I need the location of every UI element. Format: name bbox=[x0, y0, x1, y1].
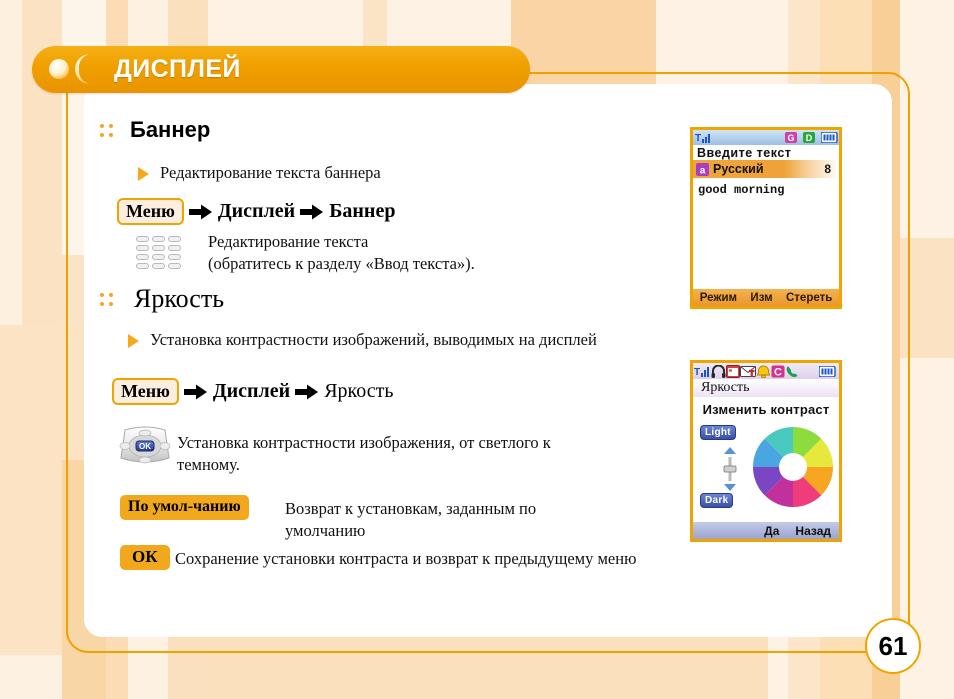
battery-icon bbox=[819, 366, 837, 377]
arrow-right-icon bbox=[294, 383, 320, 401]
default-desc-line2: умолчанию bbox=[285, 520, 365, 541]
phone-screen-text-entry: T G D Введите текст a Русский 8 good mor… bbox=[690, 127, 842, 309]
bg-block bbox=[900, 238, 954, 358]
page-title: ДИСПЛЕЙ bbox=[114, 55, 241, 84]
brightness-bullet: Установка контрастности изображений, выв… bbox=[128, 330, 668, 351]
phone2-softkey-back[interactable]: Назад bbox=[795, 524, 831, 538]
triangle-bullet-icon bbox=[128, 334, 139, 348]
phone1-counter: 8 bbox=[824, 162, 831, 176]
arrow-right-icon bbox=[183, 383, 209, 401]
phone1-language-row: a Русский 8 bbox=[693, 160, 839, 178]
phone1-body-text[interactable]: good morning bbox=[693, 178, 839, 283]
keypad-icon bbox=[136, 236, 184, 270]
phone1-softkey-center[interactable]: Изм bbox=[750, 292, 772, 304]
section-bullet-dots-icon bbox=[100, 291, 117, 308]
phone2-softkey-confirm[interactable]: Да bbox=[764, 524, 779, 538]
g-indicator-icon: G bbox=[785, 132, 797, 143]
svg-text:OK: OK bbox=[139, 442, 151, 451]
triangle-bullet-icon bbox=[138, 167, 149, 181]
default-badge[interactable]: По умол-чанию bbox=[120, 495, 249, 520]
banner-bullet-text: Редактирование текста баннера bbox=[160, 163, 381, 184]
navigation-key-icon: OK bbox=[117, 424, 173, 468]
c-icon: C bbox=[771, 365, 785, 378]
arrow-right-icon bbox=[188, 203, 214, 221]
d-indicator-icon: D bbox=[803, 132, 815, 143]
phone1-softkey-right[interactable]: Стереть bbox=[786, 292, 832, 304]
path-step-1: Дисплей bbox=[218, 200, 295, 223]
menu-chip-button[interactable]: Меню bbox=[112, 378, 179, 405]
path-step-2: Баннер bbox=[329, 200, 395, 223]
svg-text:a: a bbox=[700, 165, 706, 176]
mail-icon bbox=[740, 365, 756, 378]
menu-chip-button[interactable]: Меню bbox=[117, 198, 184, 225]
page-number: 61 bbox=[865, 618, 921, 674]
svg-text:G: G bbox=[787, 133, 794, 143]
brightness-menu-path: Меню Дисплей Яркость bbox=[112, 378, 393, 405]
color-wheel-icon[interactable] bbox=[751, 425, 835, 509]
banner-note-line1: Редактирование текста bbox=[208, 231, 368, 252]
phone1-title: Введите текст bbox=[693, 145, 839, 160]
phone-screen-brightness: T C Яркос bbox=[690, 360, 842, 542]
headset-icon bbox=[711, 365, 726, 378]
banner-note-line2: (обратитесь к разделу «Ввод текста»). bbox=[208, 253, 475, 274]
phone2-status-bar: T C bbox=[693, 363, 839, 379]
svg-text:T: T bbox=[694, 367, 700, 378]
phone1-softkeys: Режим Изм Стереть bbox=[693, 289, 839, 306]
path-step-1: Дисплей bbox=[213, 380, 290, 403]
input-mode-a-icon: a bbox=[696, 163, 709, 176]
contrast-slider[interactable] bbox=[715, 445, 745, 493]
svg-text:C: C bbox=[774, 366, 782, 378]
brightness-bullet-text: Установка контрастности изображений, выв… bbox=[150, 330, 597, 351]
alarm-icon bbox=[756, 365, 771, 378]
banner-menu-path: Меню Дисплей Баннер bbox=[117, 198, 395, 225]
phone1-language-label: Русский bbox=[713, 162, 764, 176]
section-heading-brightness: Яркость bbox=[100, 284, 224, 314]
battery-icon bbox=[821, 132, 839, 143]
svg-text:T: T bbox=[695, 133, 701, 144]
phone2-title: Яркость bbox=[693, 379, 839, 397]
phone2-softkeys: Да Назад bbox=[693, 522, 839, 539]
svg-text:D: D bbox=[806, 133, 813, 143]
path-step-2: Яркость bbox=[324, 380, 393, 403]
phone1-softkey-left[interactable]: Режим bbox=[700, 292, 737, 304]
ok-badge[interactable]: ОК bbox=[120, 545, 170, 570]
signal-icon: T bbox=[695, 131, 713, 144]
phone1-status-bar: T G D bbox=[693, 130, 839, 145]
banner-bullet: Редактирование текста баннера bbox=[138, 163, 618, 184]
section-heading-banner: Баннер bbox=[100, 117, 210, 143]
phone2-main-area: Light Dark bbox=[693, 419, 839, 527]
bg-block bbox=[0, 655, 62, 699]
calendar-icon bbox=[726, 365, 740, 378]
section-title: Яркость bbox=[134, 284, 224, 313]
brightness-note-line2: темному. bbox=[177, 454, 240, 475]
ok-desc-line1: Сохранение установки контраста и возврат… bbox=[175, 548, 636, 569]
eclipse-logo-icon bbox=[42, 50, 104, 88]
signal-icon: T bbox=[694, 365, 711, 378]
phone2-subtitle: Изменить контраст bbox=[693, 397, 839, 419]
section-bullet-dots-icon bbox=[100, 122, 117, 139]
slider-light-label[interactable]: Light bbox=[700, 425, 736, 440]
default-desc-line1: Возврат к установкам, заданным по bbox=[285, 498, 536, 519]
call-icon bbox=[785, 365, 799, 378]
brightness-note-line1: Установка контрастности изображения, от … bbox=[177, 432, 551, 453]
arrow-right-icon bbox=[299, 203, 325, 221]
section-title: Баннер bbox=[130, 117, 210, 142]
section-header-tab: ДИСПЛЕЙ bbox=[32, 46, 530, 93]
slider-dark-label[interactable]: Dark bbox=[700, 493, 733, 508]
